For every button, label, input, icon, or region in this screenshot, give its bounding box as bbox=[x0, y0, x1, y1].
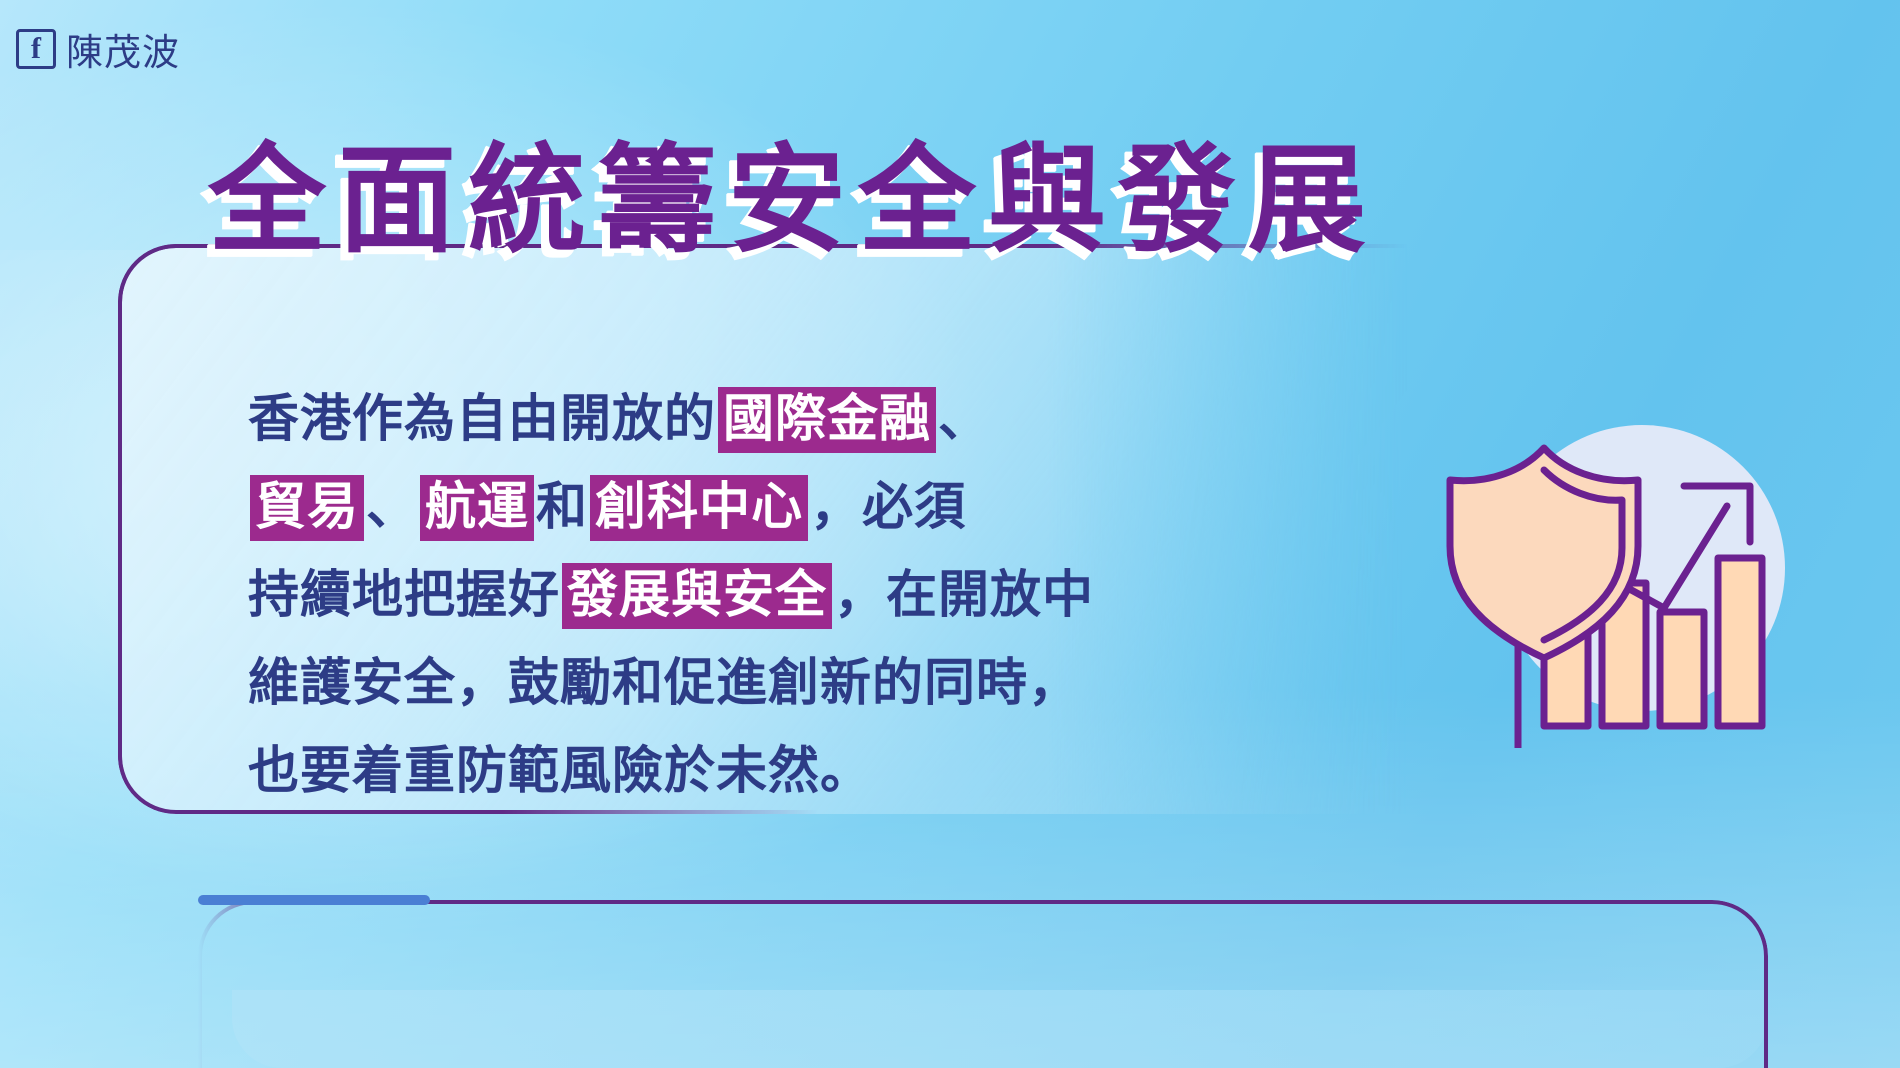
shield-and-growth-chart-illustration bbox=[1432, 418, 1792, 748]
facebook-handle[interactable]: f 陳茂波 bbox=[16, 22, 180, 76]
lower-panel-outline bbox=[198, 900, 1768, 1068]
body-line: 持續地把握好發展與安全，在開放中 bbox=[248, 551, 1248, 639]
body-text-run: 和 bbox=[536, 478, 588, 535]
body-text-run: 香港作為自由開放的 bbox=[248, 390, 716, 447]
body-text-run: ，在開放中 bbox=[834, 566, 1094, 623]
highlighted-term: 貿易 bbox=[250, 475, 364, 541]
body-text-run: 維護安全，鼓勵和促進創新的同時， bbox=[248, 654, 1080, 711]
body-line: 維護安全，鼓勵和促進創新的同時， bbox=[248, 639, 1248, 727]
accent-bar bbox=[198, 895, 430, 905]
highlighted-term: 發展與安全 bbox=[562, 563, 832, 629]
page-title: 全面統籌安全與發展 bbox=[208, 104, 1378, 275]
body-line: 香港作為自由開放的國際金融、 bbox=[248, 375, 1248, 463]
body-paragraph: 香港作為自由開放的國際金融、貿易、航運和創科中心，必須持續地把握好發展與安全，在… bbox=[248, 375, 1248, 815]
body-text-run: ，必須 bbox=[810, 478, 966, 535]
body-text-run: 、 bbox=[938, 390, 990, 447]
account-name: 陳茂波 bbox=[66, 22, 180, 76]
body-text-run: 、 bbox=[366, 478, 418, 535]
body-line: 也要着重防範風險於未然。 bbox=[248, 727, 1248, 815]
highlighted-term: 創科中心 bbox=[590, 475, 808, 541]
body-line: 貿易、航運和創科中心，必須 bbox=[248, 463, 1248, 551]
highlighted-term: 航運 bbox=[420, 475, 534, 541]
body-text-run: 也要着重防範風險於未然。 bbox=[248, 742, 872, 799]
facebook-f-glyph: f bbox=[31, 35, 41, 63]
highlighted-term: 國際金融 bbox=[718, 387, 936, 453]
facebook-icon: f bbox=[16, 29, 56, 69]
body-text-run: 持續地把握好 bbox=[248, 566, 560, 623]
